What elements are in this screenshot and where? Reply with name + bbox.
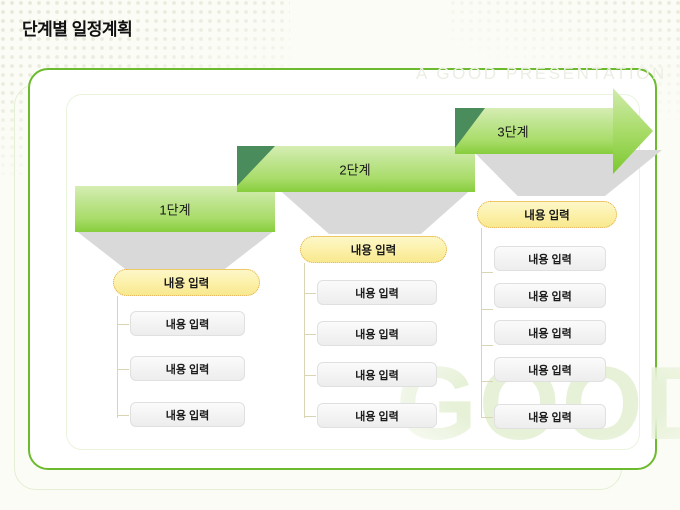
stage-item-2-2[interactable]: 내용 입력 [317, 321, 437, 346]
stage-pill-3[interactable]: 내용 입력 [477, 201, 617, 228]
connector-branch-1-2 [117, 369, 129, 370]
ribbon-fold-2 [237, 146, 275, 186]
connector-branch-3-2 [481, 309, 493, 310]
stage-item-3-1[interactable]: 내용 입력 [494, 246, 606, 271]
connector-branch-2-4 [304, 416, 316, 417]
stage-item-1-1[interactable]: 내용 입력 [130, 311, 245, 336]
connector-vertical-2 [304, 263, 305, 418]
stage-item-label-2-2: 내용 입력 [355, 326, 399, 342]
stage-item-label-3-1: 내용 입력 [528, 251, 572, 267]
watermark-presentation: A GOOD PRESENTATION [416, 64, 667, 84]
stage-pill-label-3: 내용 입력 [524, 207, 570, 223]
stage-item-label-1-2: 내용 입력 [166, 361, 210, 377]
stage-item-2-4[interactable]: 내용 입력 [317, 403, 437, 428]
stage-label-3: 3단계 [497, 122, 528, 141]
stage-item-label-3-4: 내용 입력 [528, 362, 572, 378]
connector-branch-1-3 [117, 415, 129, 416]
stage-item-3-3[interactable]: 내용 입력 [494, 320, 606, 345]
stage-item-3-2[interactable]: 내용 입력 [494, 283, 606, 308]
stage-item-label-2-1: 내용 입력 [355, 285, 399, 301]
connector-branch-3-4 [481, 381, 493, 382]
stage-item-1-2[interactable]: 내용 입력 [130, 356, 245, 381]
stage-pill-2[interactable]: 내용 입력 [300, 236, 447, 263]
ribbon-fold-3 [455, 108, 485, 148]
stage-item-label-2-4: 내용 입력 [355, 408, 399, 424]
connector-vertical-1 [117, 296, 118, 418]
stage-item-2-3[interactable]: 내용 입력 [317, 362, 437, 387]
stage-item-label-3-3: 내용 입력 [528, 325, 572, 341]
stage-pill-label-1: 내용 입력 [164, 275, 210, 291]
stage-item-3-4[interactable]: 내용 입력 [494, 357, 606, 382]
connector-branch-2-2 [304, 334, 316, 335]
slide-canvas: 단계별 일정계획 A GOOD PRESENTATION GOOD 1단계 내용… [0, 0, 680, 510]
stage-bar-1[interactable]: 1단계 [75, 186, 275, 232]
stage-item-3-5[interactable]: 내용 입력 [494, 404, 606, 429]
connector-vertical-3 [481, 228, 482, 418]
stage-item-2-1[interactable]: 내용 입력 [317, 280, 437, 305]
stage-item-label-1-1: 내용 입력 [166, 316, 210, 332]
page-title: 단계별 일정계획 [22, 15, 132, 40]
connector-branch-2-1 [304, 293, 316, 294]
connector-branch-2-3 [304, 375, 316, 376]
connector-branch-3-5 [481, 417, 493, 418]
stage-item-1-3[interactable]: 내용 입력 [130, 402, 245, 427]
connector-branch-3-3 [481, 345, 493, 346]
stage-label-2: 2단계 [339, 160, 370, 179]
stage-item-label-1-3: 내용 입력 [166, 407, 210, 423]
stage-item-label-3-5: 내용 입력 [528, 409, 572, 425]
stage-pill-label-2: 내용 입력 [351, 242, 397, 258]
stage-pill-1[interactable]: 내용 입력 [113, 269, 260, 296]
connector-branch-1-1 [117, 324, 129, 325]
connector-branch-3-1 [481, 272, 493, 273]
stage-item-label-3-2: 내용 입력 [528, 288, 572, 304]
stage-item-label-2-3: 내용 입력 [355, 367, 399, 383]
stage-label-1: 1단계 [159, 200, 190, 219]
